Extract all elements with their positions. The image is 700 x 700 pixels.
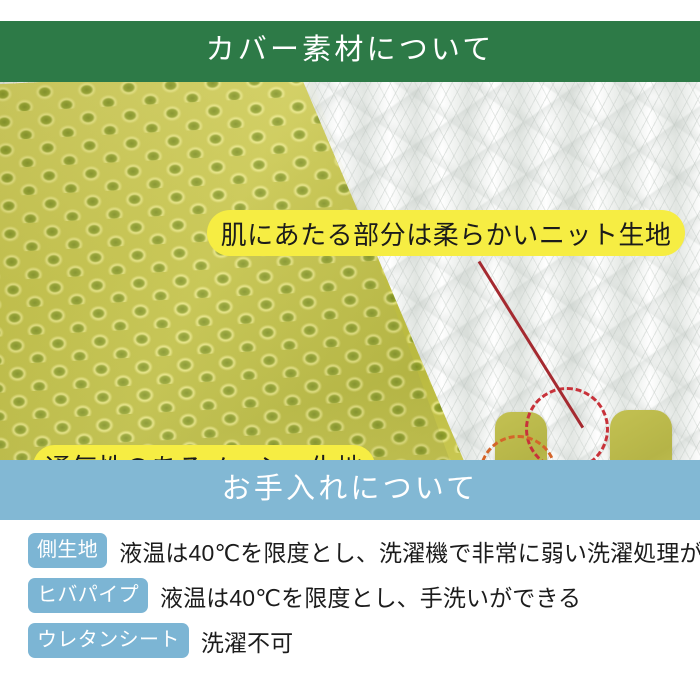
fabric-swatch-right (610, 410, 672, 460)
callout-mesh-label: 通気性のあるメッシュ生地 (45, 448, 363, 460)
care-badge-hiba-pipe: ヒバパイプ (28, 578, 148, 613)
care-row: ヒバパイプ 液温は40℃を限度とし、手洗いができる (0, 573, 700, 618)
fabric-photo: 肌にあたる部分は柔らかいニット生地 通気性のあるメッシュ生地 (0, 82, 700, 460)
care-badge-urethane-sheet: ウレタンシート (28, 623, 189, 658)
callout-knit: 肌にあたる部分は柔らかいニット生地 (207, 210, 685, 256)
care-instruction-list: 側生地 液温は40℃を限度とし、洗濯機で非常に弱い洗濯処理ができる ヒバパイプ … (0, 528, 700, 663)
infographic-page: カバー素材について 肌にあたる部分は柔らかいニット生地 通気性のあるメッシュ生地… (0, 0, 700, 700)
care-badge-outer-fabric: 側生地 (28, 533, 107, 568)
care-text-outer-fabric: 液温は40℃を限度とし、洗濯機で非常に弱い洗濯処理ができる (119, 534, 700, 568)
callout-knit-label: 肌にあたる部分は柔らかいニット生地 (221, 215, 672, 252)
section-header-care-label: お手入れについて (222, 475, 479, 504)
care-row: 側生地 液温は40℃を限度とし、洗濯機で非常に弱い洗濯処理ができる (0, 528, 700, 573)
care-text-hiba-pipe: 液温は40℃を限度とし、手洗いができる (160, 579, 581, 613)
callout-mesh: 通気性のあるメッシュ生地 (33, 445, 375, 460)
care-row: ウレタンシート 洗濯不可 (0, 618, 700, 663)
section-header-care: お手入れについて (0, 460, 700, 520)
section-header-cover: カバー素材について (0, 21, 700, 82)
section-header-cover-label: カバー素材について (206, 36, 495, 65)
care-text-urethane-sheet: 洗濯不可 (201, 624, 293, 658)
